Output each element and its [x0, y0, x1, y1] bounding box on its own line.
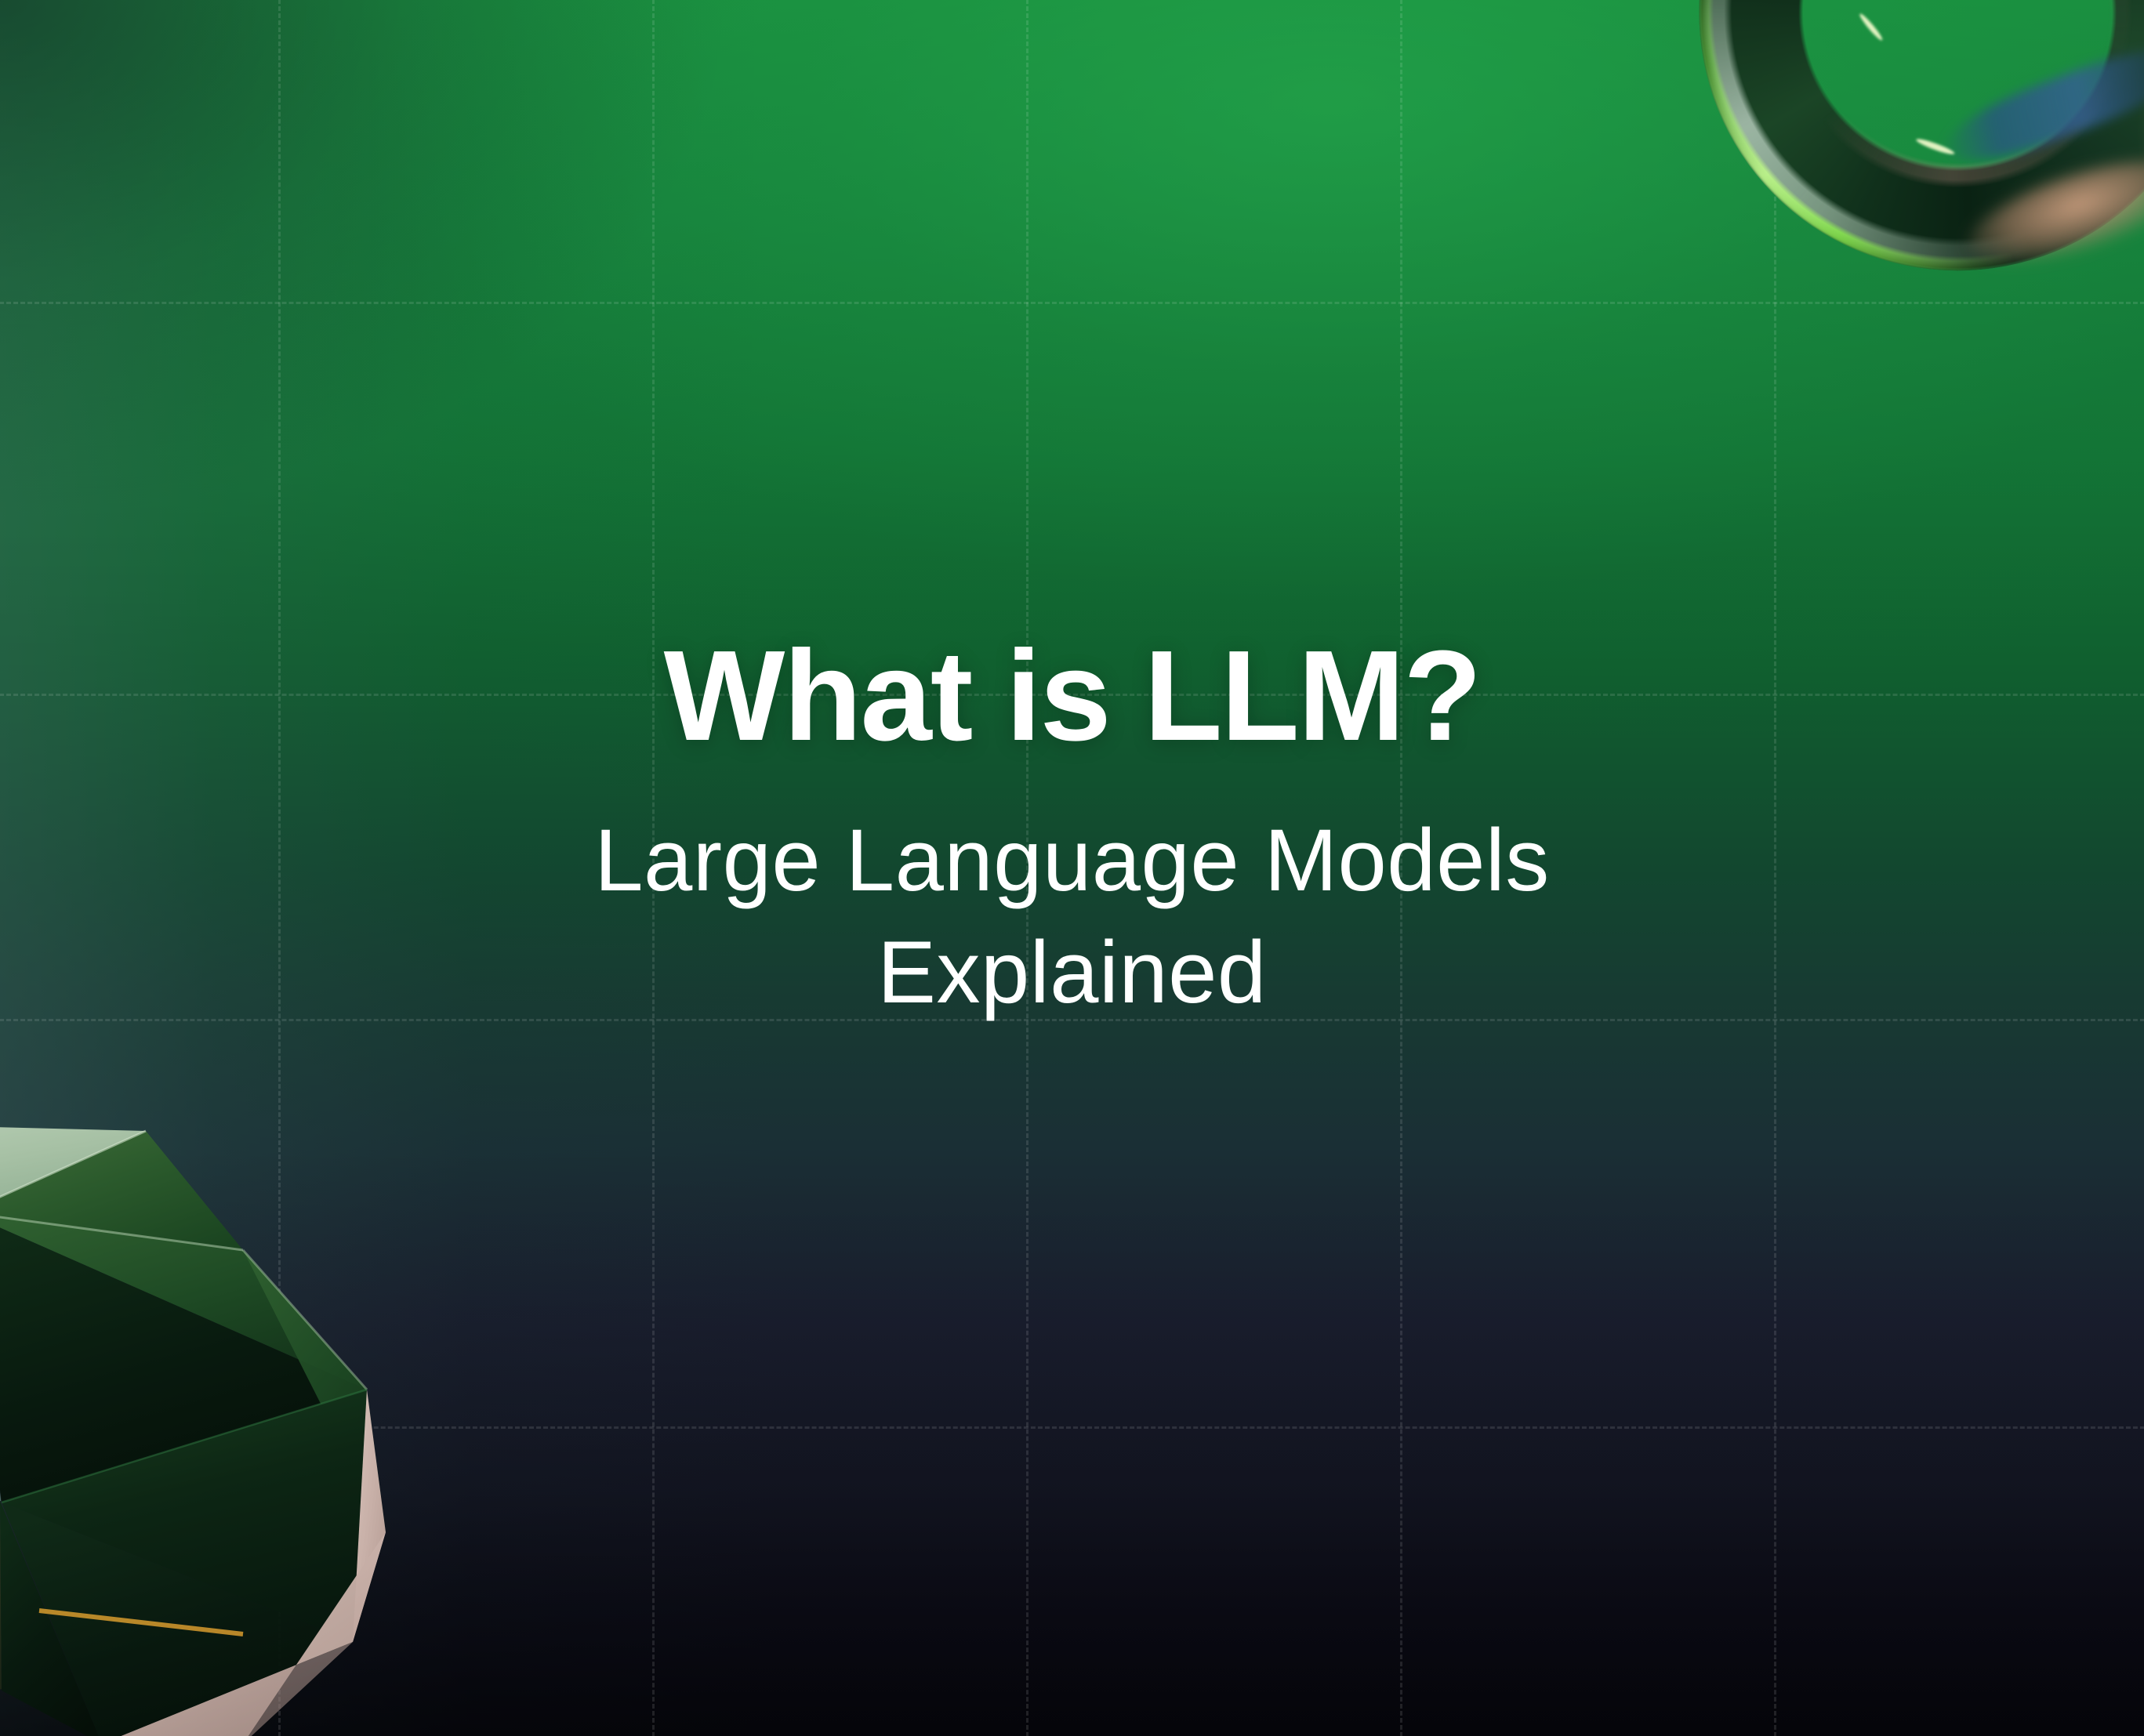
subtitle-line-2: Explained — [0, 916, 2144, 1028]
slide-text-block: What is LLM? Large Language Models Expla… — [0, 632, 2144, 1029]
slide-canvas: What is LLM? Large Language Models Expla… — [0, 0, 2144, 1736]
subtitle-line-1: Large Language Models — [0, 804, 2144, 916]
icosahedron-svg — [0, 1093, 431, 1736]
page-title: What is LLM? — [0, 632, 2144, 760]
page-subtitle: Large Language Models Explained — [0, 804, 2144, 1029]
icosahedron-3d-shape — [0, 1093, 431, 1736]
torus-inner-edge-highlight — [1665, 0, 2144, 304]
